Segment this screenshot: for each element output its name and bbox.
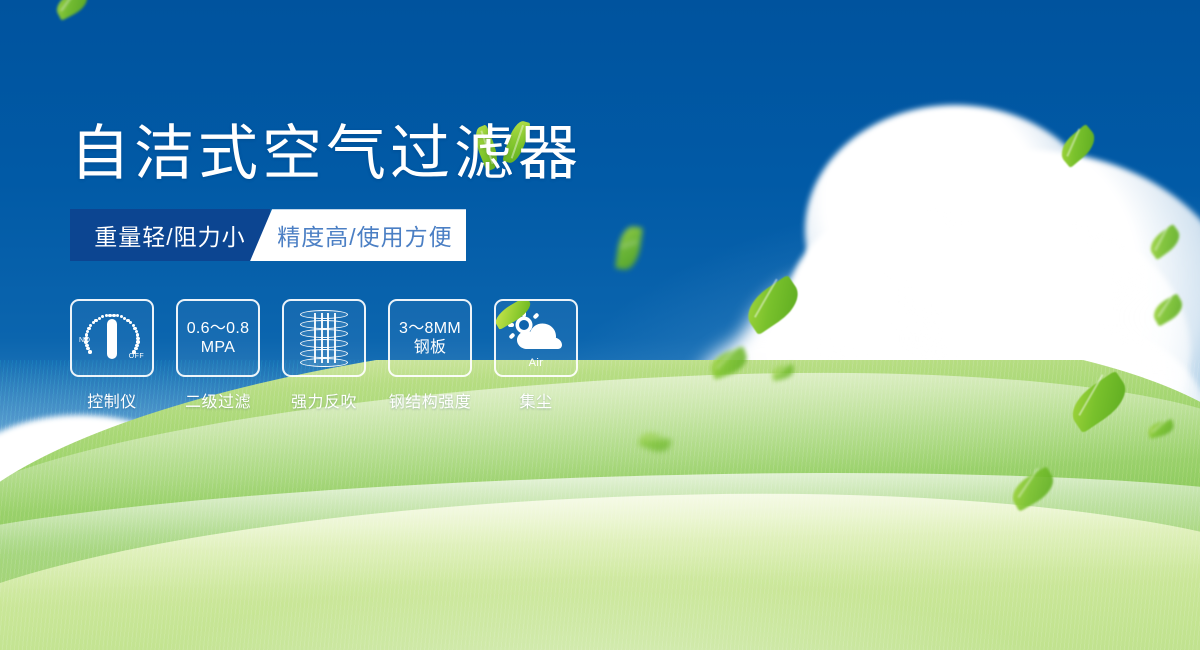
coil-icon: [300, 310, 348, 366]
coil-bar: [327, 313, 329, 363]
feature-item-two-stage-filter[interactable]: 0.6～0.8 MPA 二级过滤: [176, 299, 260, 412]
feature-icon-box: Air: [494, 299, 578, 377]
air-label: Air: [505, 357, 567, 369]
feature-item-controller[interactable]: NO OFF 控制仪: [70, 299, 154, 412]
coil-bar: [334, 313, 336, 363]
product-hero-banner: 自洁式空气过滤器 重量轻/阻力小 精度高/使用方便 NO OFF 控制仪: [0, 0, 1200, 650]
steel-thickness: 3～8MM: [399, 319, 461, 339]
feature-icon-box: NO OFF: [70, 299, 154, 377]
feature-label: 二级过滤: [176, 388, 260, 412]
feature-list: NO OFF 控制仪 0.6～0.8 MPA 二级过滤: [70, 299, 582, 412]
gauge-tick: [88, 350, 91, 353]
steel-text-icon: 3～8MM 钢板: [399, 319, 461, 358]
gauge-off-label: OFF: [129, 353, 144, 360]
feature-icon-box: 0.6～0.8 MPA: [176, 299, 260, 377]
subtitle-right-panel: 精度高/使用方便: [250, 209, 466, 261]
cloud-sun-icon: Air: [505, 309, 567, 367]
subtitle-right-text: 精度高/使用方便: [263, 218, 452, 252]
feature-label: 钢结构强度: [388, 388, 472, 412]
feature-label: 强力反吹: [282, 388, 366, 412]
coil-bar: [321, 313, 323, 363]
feature-label: 控制仪: [70, 388, 154, 412]
steel-material: 钢板: [399, 338, 461, 358]
coil-bar: [314, 313, 316, 363]
gauge-needle: [107, 319, 117, 359]
feature-icon-box: 3～8MM 钢板: [388, 299, 472, 377]
gauge-tick: [84, 340, 87, 343]
banner-content: 自洁式空气过滤器 重量轻/阻力小 精度高/使用方便 NO OFF 控制仪: [70, 120, 582, 412]
coil-ring: [300, 358, 348, 367]
pressure-unit: MPA: [187, 338, 250, 358]
page-title: 自洁式空气过滤器: [70, 120, 582, 187]
gauge-icon: NO OFF: [80, 309, 144, 367]
gauge-tick: [85, 333, 88, 336]
coil-ring: [300, 320, 348, 329]
gauge-tick: [86, 330, 89, 333]
coil-ring: [300, 349, 348, 358]
feature-item-strong-blowback[interactable]: 强力反吹: [282, 299, 366, 412]
subtitle-left-panel: 重量轻/阻力小: [70, 209, 270, 261]
subtitle-left-text: 重量轻/阻力小: [94, 218, 245, 252]
gauge-tick: [85, 344, 88, 347]
pressure-range: 0.6～0.8: [187, 319, 250, 339]
subtitle-banner: 重量轻/阻力小 精度高/使用方便: [70, 209, 466, 261]
pressure-text-icon: 0.6～0.8 MPA: [187, 319, 250, 358]
gauge-tick: [87, 327, 90, 330]
feature-item-dust-collection[interactable]: Air 集尘: [494, 299, 578, 412]
gauge-tick: [132, 350, 135, 353]
gauge-tick: [116, 314, 119, 317]
feature-icon-box: [282, 299, 366, 377]
feature-item-steel-strength[interactable]: 3～8MM 钢板 钢结构强度: [388, 299, 472, 412]
gauge-tick: [101, 315, 104, 318]
coil-ring: [300, 339, 348, 348]
gauge-tick: [89, 324, 92, 327]
feature-label: 集尘: [494, 388, 578, 412]
coil-ring: [300, 310, 348, 319]
gauge-tick: [84, 337, 87, 340]
coil-ring: [300, 329, 348, 338]
